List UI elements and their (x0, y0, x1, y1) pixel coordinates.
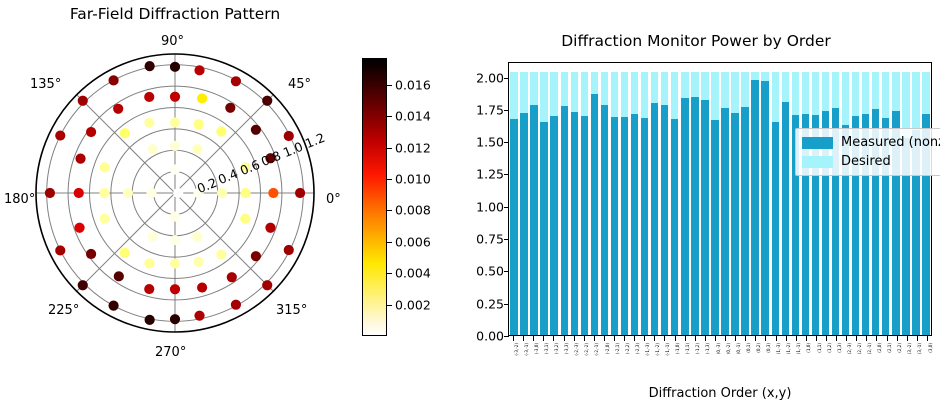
bar-group[interactable] (620, 63, 630, 335)
bar-measured (731, 113, 738, 335)
bar-measured (721, 108, 728, 335)
polar-angle-180: 180° (4, 192, 35, 207)
bar-measured (581, 116, 588, 335)
x-axis-tick-label: (-3,-2) (515, 343, 519, 356)
polar-axes (34, 52, 316, 334)
bar-measured (510, 119, 517, 335)
bar-group[interactable] (710, 63, 720, 335)
bar-measured (520, 113, 527, 335)
bar-group[interactable] (519, 63, 529, 335)
bar-group[interactable] (609, 63, 619, 335)
x-axis-tick-label: (-1,-1) (666, 343, 670, 356)
y-axis-tick-label: 1.75 (476, 102, 504, 117)
colorbar-tick-mark (387, 85, 392, 86)
bar-group[interactable] (851, 63, 861, 335)
bar-group[interactable] (911, 63, 921, 335)
bar-measured (751, 80, 758, 335)
bar-group[interactable] (509, 63, 519, 335)
y-axis-tick-label: 1.25 (476, 167, 504, 182)
colorbar-tick-mark (387, 179, 392, 180)
y-axis-tick-label: 0.75 (476, 232, 504, 247)
x-axis-tick-mark (755, 336, 756, 341)
bar-group[interactable] (549, 63, 559, 335)
legend-label-measured: Measured (nonzero) (841, 135, 940, 150)
polar-angle-135: 135° (30, 77, 61, 92)
x-axis-tick-label: (0,-1) (737, 343, 741, 354)
polar-angle-225: 225° (48, 303, 79, 318)
bar-group[interactable] (820, 63, 830, 335)
colorbar-tick-mark (387, 305, 392, 306)
x-axis-tick-label: (1,2) (828, 343, 832, 353)
x-axis-tick-mark (836, 336, 837, 341)
bar-series-container (509, 63, 931, 335)
bar-group[interactable] (630, 63, 640, 335)
bar-chart-x-axis-label: Diffraction Order (x,y) (508, 386, 932, 401)
colorbar-tick-label: 0.006 (395, 234, 431, 249)
x-axis-tick-mark (654, 336, 655, 341)
x-axis-tick-label: (0,1) (747, 343, 751, 353)
bar-measured (571, 112, 578, 335)
colorbar-tick-label: 0.010 (395, 171, 431, 186)
x-axis-tick-mark (745, 336, 746, 341)
x-axis-tick-mark (917, 336, 918, 341)
x-axis-tick-mark (907, 336, 908, 341)
y-axis-tick-mark (504, 174, 509, 175)
bar-chart-panel: Diffraction Monitor Power by Order Measu… (452, 0, 940, 411)
x-axis-tick-label: (-2,-1) (595, 343, 599, 356)
x-axis-tick-mark (614, 336, 615, 341)
y-axis-tick-mark (504, 239, 509, 240)
bar-group[interactable] (680, 63, 690, 335)
x-axis-tick-mark (866, 336, 867, 341)
bar-measured (711, 120, 718, 335)
bar-group[interactable] (730, 63, 740, 335)
bar-group[interactable] (770, 63, 780, 335)
bar-measured (691, 97, 698, 335)
bar-measured (681, 98, 688, 335)
x-axis-tick-mark (594, 336, 595, 341)
bar-measured (701, 100, 708, 335)
bar-group[interactable] (831, 63, 841, 335)
x-axis-tick-label: (-2,2) (626, 343, 630, 354)
x-axis-tick-mark (624, 336, 625, 341)
x-axis-tick-mark (523, 336, 524, 341)
y-axis-tick-label: 0.25 (476, 296, 504, 311)
x-axis-tick-label: (0,-3) (717, 343, 721, 354)
bar-group[interactable] (871, 63, 881, 335)
x-axis-tick-label: (-1,1) (686, 343, 690, 354)
bar-measured (621, 117, 628, 335)
colorbar-tick-label: 0.014 (395, 109, 431, 124)
x-axis-tick-label: (3,-2) (908, 343, 912, 354)
x-axis-tick-label: (-2,1) (616, 343, 620, 354)
bar-measured (561, 106, 568, 335)
legend-swatch-measured (802, 137, 833, 149)
bar-group[interactable] (599, 63, 609, 335)
x-axis-tick-mark (735, 336, 736, 341)
y-axis-tick-mark (504, 110, 509, 111)
legend-swatch-desired (802, 156, 833, 168)
x-axis-tick-mark (826, 336, 827, 341)
polar-panel: Far-Field Diffraction Pattern 0° 45° 90°… (0, 0, 350, 411)
x-axis-tick-label: (1,1) (818, 343, 822, 353)
bar-measured (611, 117, 618, 335)
x-axis-tick-mark (574, 336, 575, 341)
bar-group[interactable] (529, 63, 539, 335)
x-axis-tick-label: (1,-1) (797, 343, 801, 354)
bar-measured (661, 105, 668, 335)
bar-group[interactable] (790, 63, 800, 335)
y-axis-tick-mark (504, 78, 509, 79)
bar-group[interactable] (720, 63, 730, 335)
x-axis-tick-mark (604, 336, 605, 341)
bar-measured (772, 122, 779, 335)
bar-measured (671, 119, 678, 335)
bar-group[interactable] (901, 63, 911, 335)
bar-group[interactable] (881, 63, 891, 335)
figure-canvas: Far-Field Diffraction Pattern 0° 45° 90°… (0, 0, 940, 411)
x-axis-tick-mark (927, 336, 928, 341)
x-axis-tick-mark (725, 336, 726, 341)
x-axis-tick-label: (1,0) (807, 343, 811, 353)
x-axis-tick-mark (644, 336, 645, 341)
x-axis-tick-mark (543, 336, 544, 341)
polar-angle-315: 315° (276, 303, 307, 318)
x-axis-tick-mark (664, 336, 665, 341)
x-axis-tick-label: (-1,-2) (656, 343, 660, 356)
y-axis-tick-label: 0.00 (476, 329, 504, 344)
y-axis-tick-mark (504, 271, 509, 272)
colorbar-tick-mark (387, 242, 392, 243)
bar-group[interactable] (700, 63, 710, 335)
bar-measured (591, 94, 598, 335)
colorbar-tick-label: 0.004 (395, 266, 431, 281)
y-axis-tick-label: 1.00 (476, 199, 504, 214)
x-axis-tick-label: (-1,-3) (646, 343, 650, 356)
bar-chart-y-ticks (504, 62, 509, 336)
bar-measured (601, 105, 608, 335)
bar-group[interactable] (760, 63, 770, 335)
x-axis-tick-mark (876, 336, 877, 341)
x-axis-tick-label: (0,-2) (727, 343, 731, 354)
x-axis-tick-label: (-2,-2) (585, 343, 589, 356)
x-axis-tick-label: (1,-3) (777, 343, 781, 354)
bar-chart-title: Diffraction Monitor Power by Order (452, 32, 940, 50)
colorbar-tick-label: 0.016 (395, 77, 431, 92)
bar-group[interactable] (780, 63, 790, 335)
x-axis-tick-mark (806, 336, 807, 341)
x-axis-tick-mark (887, 336, 888, 341)
y-axis-tick-mark (504, 207, 509, 208)
x-axis-tick-label: (-3,2) (555, 343, 559, 354)
bar-group[interactable] (891, 63, 901, 335)
x-axis-tick-label: (2,-1) (868, 343, 872, 354)
bar-group[interactable] (559, 63, 569, 335)
x-axis-tick-label: (3,0) (929, 343, 933, 353)
bar-group[interactable] (810, 63, 820, 335)
x-axis-tick-label: (3,-1) (918, 343, 922, 354)
polar-angle-270: 270° (155, 345, 186, 360)
bar-group[interactable] (690, 63, 700, 335)
x-axis-tick-mark (765, 336, 766, 341)
x-axis-tick-label: (0,2) (757, 343, 761, 353)
bar-measured (761, 81, 768, 335)
x-axis-tick-mark (705, 336, 706, 341)
polar-scatter (34, 52, 316, 334)
x-axis-tick-mark (856, 336, 857, 341)
bar-measured (540, 122, 547, 335)
bar-measured (782, 102, 789, 336)
colorbar: 0.0020.0040.0060.0080.0100.0120.0140.016 (362, 58, 454, 336)
bar-measured (550, 116, 557, 335)
y-axis-tick-label: 0.50 (476, 264, 504, 279)
x-axis-tick-mark (564, 336, 565, 341)
bar-group[interactable] (660, 63, 670, 335)
x-axis-tick-label: (1,3) (838, 343, 842, 353)
x-axis-tick-label: (2,0) (878, 343, 882, 353)
x-axis-tick-label: (-2,3) (636, 343, 640, 354)
polar-angle-0: 0° (326, 192, 341, 207)
bar-measured (651, 103, 658, 335)
x-axis-tick-label: (2,2) (898, 343, 902, 353)
bar-group[interactable] (841, 63, 851, 335)
legend-label-desired: Desired (841, 154, 891, 169)
polar-title: Far-Field Diffraction Pattern (0, 5, 350, 23)
bar-group[interactable] (539, 63, 549, 335)
colorbar-tick-label: 0.012 (395, 140, 431, 155)
colorbar-tick-mark (387, 148, 392, 149)
bar-chart-axes: Measured (nonzero) Desired (508, 62, 932, 336)
x-axis-tick-mark (634, 336, 635, 341)
bar-group[interactable] (800, 63, 810, 335)
x-axis-tick-mark (796, 336, 797, 341)
x-axis-tick-label: (2,1) (888, 343, 892, 353)
x-axis-tick-label: (-1,2) (696, 343, 700, 354)
x-axis-tick-mark (715, 336, 716, 341)
x-axis-tick-mark (897, 336, 898, 341)
x-axis-tick-label: (0,3) (767, 343, 771, 353)
polar-angle-90: 90° (161, 34, 184, 49)
y-axis-tick-label: 2.00 (476, 70, 504, 85)
x-axis-tick-label: (2,-3) (848, 343, 852, 354)
x-axis-tick-label: (-3,3) (565, 343, 569, 354)
colorbar-tick-mark (387, 273, 392, 274)
x-axis-tick-mark (584, 336, 585, 341)
bar-group[interactable] (861, 63, 871, 335)
x-axis-tick-label: (1,-2) (787, 343, 791, 354)
x-axis-tick-mark (816, 336, 817, 341)
polar-angle-45: 45° (288, 77, 311, 92)
colorbar-tick-label: 0.008 (395, 203, 431, 218)
x-axis-tick-label: (-2,0) (606, 343, 610, 354)
colorbar-tick-mark (387, 116, 392, 117)
colorbar-gradient (362, 58, 387, 336)
bar-group[interactable] (579, 63, 589, 335)
bar-chart-y-axis: 0.000.250.500.751.001.251.501.752.00 (452, 62, 504, 336)
x-axis-tick-label: (2,-2) (858, 343, 862, 354)
x-axis-tick-mark (685, 336, 686, 341)
bar-group[interactable] (589, 63, 599, 335)
bar-group[interactable] (650, 63, 660, 335)
y-axis-tick-label: 1.50 (476, 135, 504, 150)
bar-measured (641, 118, 648, 335)
legend-entry-measured: Measured (nonzero) (802, 133, 940, 152)
bar-group[interactable] (750, 63, 760, 335)
y-axis-tick-mark (504, 142, 509, 143)
x-axis-tick-label: (-1,0) (676, 343, 680, 354)
x-axis-tick-label: (-1,3) (706, 343, 710, 354)
bar-group[interactable] (921, 63, 931, 335)
bar-group[interactable] (740, 63, 750, 335)
chart-legend[interactable]: Measured (nonzero) Desired (795, 128, 940, 176)
bar-group[interactable] (670, 63, 680, 335)
x-axis-tick-mark (675, 336, 676, 341)
x-axis-tick-mark (513, 336, 514, 341)
x-axis-tick-mark (846, 336, 847, 341)
x-axis-tick-mark (553, 336, 554, 341)
x-axis-tick-mark (776, 336, 777, 341)
bar-measured (631, 114, 638, 335)
bar-measured (530, 105, 537, 335)
y-axis-tick-mark (504, 304, 509, 305)
x-axis-tick-label: (-3,0) (535, 343, 539, 354)
bar-group[interactable] (569, 63, 579, 335)
x-axis-tick-label: (-2,-3) (575, 343, 579, 356)
x-axis-tick-label: (-3,1) (545, 343, 549, 354)
x-axis-tick-mark (695, 336, 696, 341)
x-axis-tick-mark (786, 336, 787, 341)
legend-entry-desired: Desired (802, 152, 940, 171)
colorbar-tick-mark (387, 210, 392, 211)
x-axis-tick-label: (-3,-1) (525, 343, 529, 356)
colorbar-tick-label: 0.002 (395, 297, 431, 312)
bar-group[interactable] (640, 63, 650, 335)
x-axis-tick-mark (533, 336, 534, 341)
bar-measured (741, 107, 748, 335)
